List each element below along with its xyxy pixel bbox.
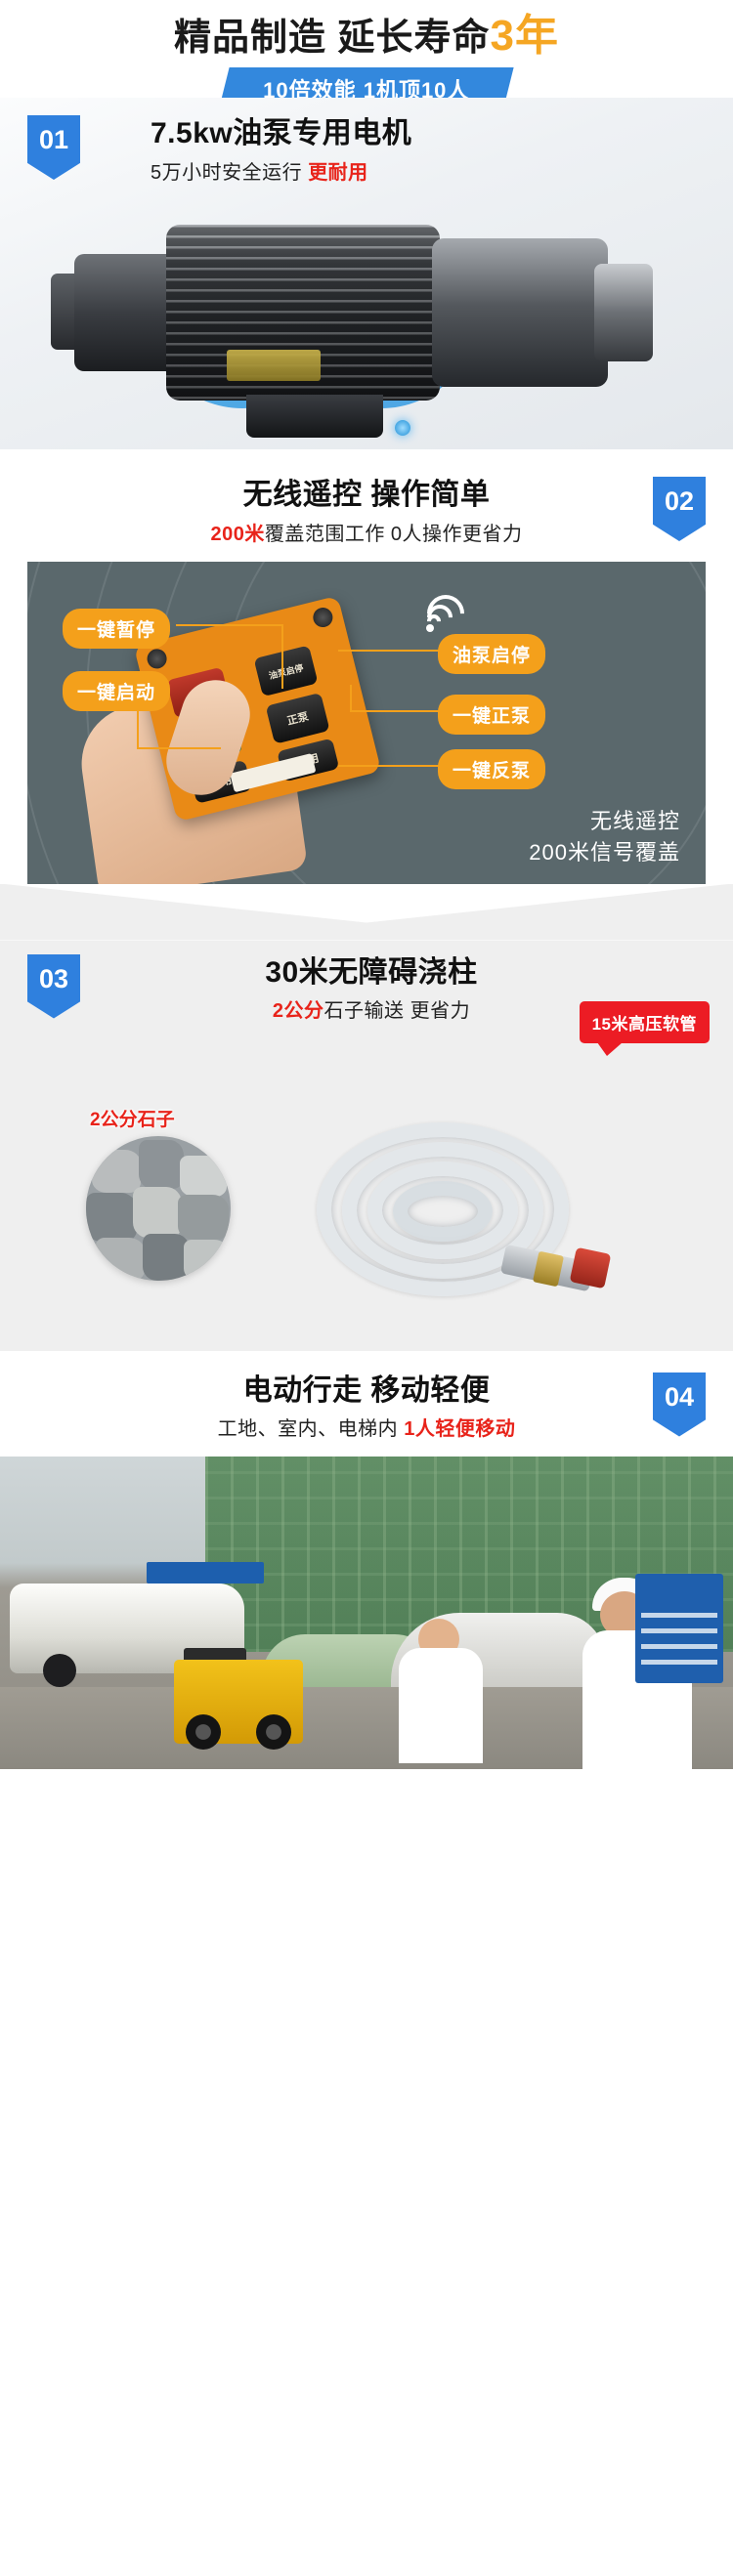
page-title: 精品制造 延长寿命3年 — [0, 0, 733, 62]
section-01-header: 01 7.5kw油泵专用电机 5万小时安全运行 更耐用 — [0, 98, 733, 185]
section-04: 电动行走 移动轻便 工地、室内、电梯内 1人轻便移动 04 — [0, 1351, 733, 1770]
callout-leader-line — [176, 624, 283, 626]
gravel-photo — [86, 1136, 231, 1281]
section-03-title: 30米无障碍浇柱 — [156, 954, 586, 992]
section-03: 03 30米无障碍浇柱 2公分石子输送 更省力 2公分石子 15米高压软管 — [0, 941, 733, 1351]
remote-key-pump-toggle[interactable]: 油泵启停 — [254, 645, 319, 697]
section-03-text: 30米无障碍浇柱 2公分石子输送 更省力 — [156, 954, 586, 1024]
section-01-text: 7.5kw油泵专用电机 5万小时安全运行 更耐用 — [151, 115, 411, 185]
callout-forward-pump: 一键正泵 — [438, 695, 545, 735]
section-02-subtitle-highlight: 200米 — [210, 524, 264, 545]
page-title-main: 精品制造 延长寿命 — [174, 18, 491, 59]
section-01-title: 7.5kw油泵专用电机 — [151, 115, 411, 152]
section-03-subtitle-highlight: 2公分 — [273, 1000, 324, 1022]
section-04-header: 电动行走 移动轻便 工地、室内、电梯内 1人轻便移动 04 — [0, 1372, 733, 1442]
hose-photo — [293, 1117, 684, 1312]
hose-end-cap — [570, 1246, 612, 1288]
callout-leader-line — [281, 624, 283, 689]
callout-leader-line — [137, 704, 139, 749]
remote-control-image: 停 油泵启停 启动 正泵 备用 备用 一键暂停 一键启动 油泵启停 一键正泵 一… — [27, 562, 706, 884]
machine-wheel — [256, 1714, 291, 1750]
gravel-label: 2公分石子 — [90, 1105, 175, 1131]
section-01-subtitle: 5万小时安全运行 更耐用 — [151, 156, 411, 185]
motor-nameplate — [227, 350, 321, 381]
remote-caption-line2: 200米信号覆盖 — [529, 837, 680, 868]
section-02-badge: 02 — [653, 477, 706, 541]
callout-pump-toggle: 油泵启停 — [438, 634, 545, 674]
callout-leader-line — [350, 685, 352, 712]
section-01-subtitle-highlight: 更耐用 — [308, 162, 368, 184]
remote-caption-line1: 无线遥控 — [529, 806, 680, 837]
section-01-badge: 01 — [27, 115, 80, 180]
callout-leader-line — [338, 765, 440, 767]
remote-caption: 无线遥控 200米信号覆盖 — [529, 806, 680, 868]
safety-notice-board — [635, 1574, 723, 1683]
section-03-badge: 03 — [27, 954, 80, 1019]
section-02-subtitle-plain: 覆盖范围工作 0人操作更省力 — [265, 524, 523, 545]
callout-leader-line — [137, 747, 221, 749]
hose-length-badge: 15米高压软管 — [580, 1001, 710, 1043]
page-header: 精品制造 延长寿命3年 10倍效能 1机顶10人 — [0, 0, 733, 98]
callout-leader-line — [338, 650, 440, 652]
site-banner — [147, 1562, 264, 1584]
section-01: 01 7.5kw油泵专用电机 5万小时安全运行 更耐用 — [0, 98, 733, 449]
motor-front-housing — [432, 238, 608, 387]
motor-mount-foot — [246, 395, 383, 438]
callout-reverse-pump: 一键反泵 — [438, 749, 545, 789]
section-02-subtitle: 200米覆盖范围工作 0人操作更省力 — [210, 518, 522, 546]
section-03-subtitle: 2公分石子输送 更省力 — [156, 994, 586, 1023]
remote-key-forward[interactable]: 正泵 — [266, 692, 330, 743]
construction-site-photo — [0, 1457, 733, 1769]
chevron-divider — [0, 884, 733, 941]
section-04-subtitle: 工地、室内、电梯内 1人轻便移动 — [218, 1413, 516, 1441]
page-title-years: 3年 — [491, 12, 559, 60]
callout-pause: 一键暂停 — [63, 609, 170, 649]
section-04-subtitle-plain: 工地、室内、电梯内 — [218, 1418, 405, 1440]
antenna-screw-icon — [145, 647, 168, 670]
section-02-title: 无线遥控 操作简单 — [210, 477, 522, 514]
section-02-text: 无线遥控 操作简单 200米覆盖范围工作 0人操作更省力 — [210, 477, 522, 546]
section-02: 无线遥控 操作简单 200米覆盖范围工作 0人操作更省力 02 停 油泵启停 启… — [0, 449, 733, 884]
motor-shaft-cover — [594, 264, 653, 361]
machine-wheel — [186, 1714, 221, 1750]
wireless-signal-icon — [423, 591, 472, 630]
callout-leader-line — [350, 710, 440, 712]
section-04-title: 电动行走 移动轻便 — [218, 1372, 516, 1410]
worker-figure — [399, 1648, 483, 1763]
section-04-subtitle-highlight: 1人轻便移动 — [404, 1418, 515, 1440]
antenna-screw-icon — [311, 605, 334, 628]
section-03-subtitle-plain: 石子输送 更省力 — [324, 1000, 471, 1022]
section-04-text: 电动行走 移动轻便 工地、室内、电梯内 1人轻便移动 — [218, 1372, 516, 1442]
motor-photo — [51, 203, 637, 423]
section-04-badge: 04 — [653, 1372, 706, 1437]
callout-start: 一键启动 — [63, 671, 170, 711]
remote-label-strip — [230, 753, 316, 792]
section-02-header: 无线遥控 操作简单 200米覆盖范围工作 0人操作更省力 02 — [0, 477, 733, 546]
motor-indicator-light — [395, 420, 410, 436]
section-01-subtitle-plain: 5万小时安全运行 — [151, 162, 308, 184]
motor-illustration — [0, 176, 733, 449]
